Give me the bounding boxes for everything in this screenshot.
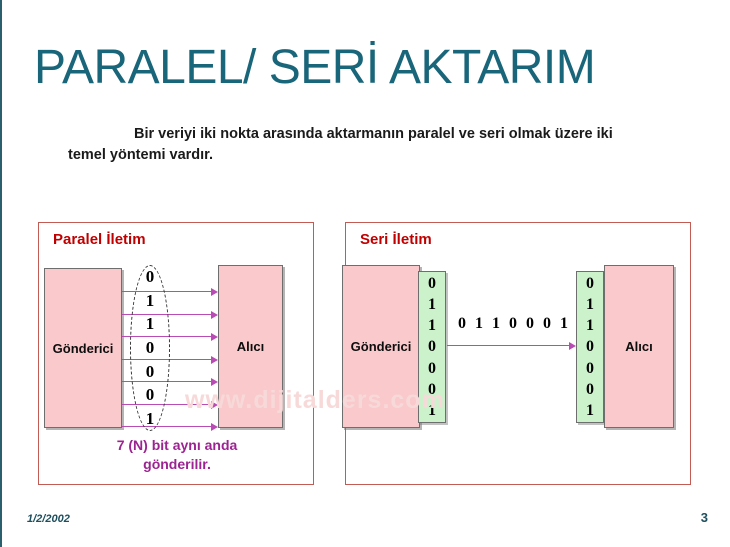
parallel-arrow-head-1 — [211, 311, 218, 319]
serial-receiver-box: Alıcı — [604, 265, 674, 428]
slide-left-edge-rule — [0, 0, 2, 547]
serial-sender-bit-6: 1 — [428, 402, 436, 419]
parallel-bit-stack: 0110001 — [139, 268, 161, 428]
serial-sender-bit-3: 0 — [428, 338, 436, 355]
panel-parallel-transmission: Paralel İletim Gönderici Alıcı 0110001 7… — [38, 222, 314, 485]
serial-stream-arrow-head — [569, 342, 576, 350]
parallel-arrow-line-6 — [122, 426, 212, 427]
serial-receiver-bit-6: 1 — [586, 402, 594, 419]
parallel-bit-2: 1 — [146, 315, 155, 333]
serial-receiver-bit-4: 0 — [586, 360, 594, 377]
parallel-bit-1: 1 — [146, 292, 155, 310]
parallel-arrow-head-3 — [211, 356, 218, 364]
parallel-arrow-head-2 — [211, 333, 218, 341]
footer-date: 1/2/2002 — [27, 513, 70, 525]
serial-receiver-label: Alıcı — [625, 339, 652, 354]
parallel-caption-line-2: gönderilir. — [49, 455, 305, 474]
serial-stream-arrow-line — [447, 345, 569, 346]
parallel-caption: 7 (N) bit aynı anda gönderilir. — [49, 436, 305, 474]
parallel-arrow-head-0 — [211, 288, 218, 296]
parallel-arrow-head-6 — [211, 423, 218, 431]
footer-page-number: 3 — [701, 510, 708, 525]
panel-serial-title: Seri İletim — [360, 231, 432, 248]
serial-receiver-bit-column: 0110001 — [576, 271, 604, 423]
parallel-bit-4: 0 — [146, 363, 155, 381]
body-paragraph: Bir veriyi iki nokta arasında aktarmanın… — [68, 124, 628, 166]
serial-sender-bit-2: 1 — [428, 317, 436, 334]
parallel-bit-5: 0 — [146, 386, 155, 404]
parallel-bit-0: 0 — [146, 268, 155, 286]
serial-receiver-bit-5: 0 — [586, 381, 594, 398]
parallel-arrow-head-5 — [211, 401, 218, 409]
serial-sender-bit-column: 0110001 — [418, 271, 446, 423]
serial-sender-bit-5: 0 — [428, 381, 436, 398]
page-title: PARALEL/ SERİ AKTARIM — [34, 40, 595, 96]
serial-sender-bit-0: 0 — [428, 275, 436, 292]
serial-sender-box: Gönderici — [342, 265, 420, 428]
parallel-bit-6: 1 — [146, 410, 155, 428]
serial-sender-bit-4: 0 — [428, 360, 436, 377]
serial-sender-label: Gönderici — [351, 339, 412, 354]
serial-receiver-bit-1: 1 — [586, 296, 594, 313]
serial-receiver-bit-3: 0 — [586, 338, 594, 355]
panel-serial-transmission: Seri İletim Gönderici 0110001 0110001 Al… — [345, 222, 691, 485]
serial-sender-bit-1: 1 — [428, 296, 436, 313]
serial-stream-label: 0 1 1 0 0 0 1 — [458, 315, 571, 333]
body-paragraph-text: Bir veriyi iki nokta arasında aktarmanın… — [68, 126, 613, 163]
parallel-caption-line-1: 7 (N) bit aynı anda — [49, 436, 305, 455]
parallel-bit-3: 0 — [146, 339, 155, 357]
serial-receiver-bit-0: 0 — [586, 275, 594, 292]
parallel-arrow-head-4 — [211, 378, 218, 386]
slide-canvas: PARALEL/ SERİ AKTARIM Bir veriyi iki nok… — [0, 0, 730, 547]
serial-receiver-bit-2: 1 — [586, 317, 594, 334]
